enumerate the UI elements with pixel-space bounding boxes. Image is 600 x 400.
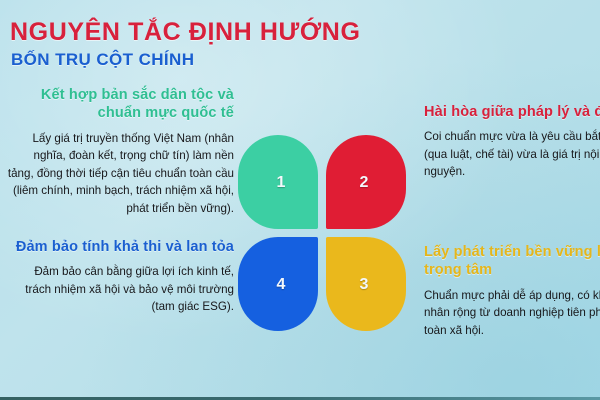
page-title: NGUYÊN TẮC ĐỊNH HƯỚNG xyxy=(10,18,361,47)
petal-1-green[interactable]: 1 xyxy=(238,135,318,229)
pillar-heading-1: Kết hợp bản sắc dân tộc và chuẩn mực quố… xyxy=(6,86,234,123)
petal-3-yellow[interactable]: 3 xyxy=(326,237,406,331)
pillar-body-2: Coi chuẩn mực vừa là yêu cầu bắt buộc (q… xyxy=(424,128,600,181)
pillar-text-3: Lấy phát triển bền vững làm trọng tâm Ch… xyxy=(424,243,600,339)
pillar-heading-2: Hài hòa giữa pháp lý và đạo lý xyxy=(424,103,600,121)
pillar-heading-3: Lấy phát triển bền vững làm trọng tâm xyxy=(424,243,600,280)
petal-number-1: 1 xyxy=(277,174,286,192)
pillar-heading-4: Đảm bảo tính khả thi và lan tỏa xyxy=(6,238,234,256)
pillar-text-4: Đảm bảo tính khả thi và lan tỏa Đảm bảo … xyxy=(6,238,234,316)
slide-canvas: NGUYÊN TẮC ĐỊNH HƯỚNG BỐN TRỤ CỘT CHÍNH … xyxy=(0,0,600,400)
pillar-text-2: Hài hòa giữa pháp lý và đạo lý Coi chuẩn… xyxy=(424,103,600,181)
four-petal-diagram: 1 2 3 4 xyxy=(238,135,406,331)
petal-2-red[interactable]: 2 xyxy=(326,135,406,229)
pillar-text-1: Kết hợp bản sắc dân tộc và chuẩn mực quố… xyxy=(6,86,234,218)
page-subtitle: BỐN TRỤ CỘT CHÍNH xyxy=(11,50,194,70)
petal-number-4: 4 xyxy=(277,276,286,294)
petal-number-3: 3 xyxy=(360,276,369,294)
petal-4-blue[interactable]: 4 xyxy=(238,237,318,331)
pillar-body-1: Lấy giá trị truyền thống Việt Nam (nhân … xyxy=(6,130,234,218)
pillar-body-4: Đảm bảo cân bằng giữa lợi ích kinh tế, t… xyxy=(6,263,234,316)
petal-number-2: 2 xyxy=(360,174,369,192)
pillar-body-3: Chuẩn mực phải dễ áp dụng, có khả năng n… xyxy=(424,287,600,340)
